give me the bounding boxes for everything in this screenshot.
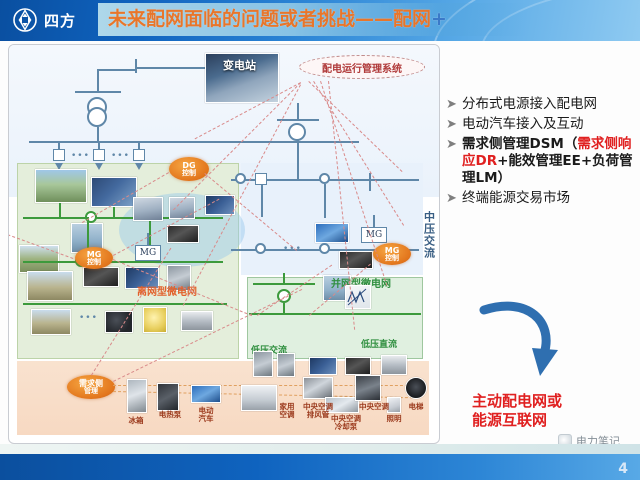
feeder-ellipsis-2: •••	[111, 151, 130, 161]
page-title-plus: +	[431, 8, 447, 30]
farm-photo-2	[31, 309, 71, 335]
hv-incoming-line	[97, 69, 137, 71]
hv-busbar-2	[277, 119, 319, 121]
feeder-arrow-2	[95, 163, 103, 170]
substation-label: 变电站	[223, 57, 256, 73]
mv-busbar	[29, 141, 359, 143]
appliance-label-chiller: 中央空调 冷却泵	[325, 415, 367, 431]
bulb-photo	[143, 307, 167, 333]
mv-node-2	[319, 173, 330, 184]
chevron-right-icon-4: ➤	[446, 190, 457, 207]
bullet-text-2: 电动汽车接入及互动	[462, 116, 584, 133]
hv-busbar	[75, 91, 121, 93]
battery-photo-2	[167, 225, 199, 243]
appliance-label-ev: 电动 汽车	[191, 407, 221, 423]
bubble-mg-left-line2: 控制	[87, 259, 101, 266]
feeder-drop-3	[138, 141, 140, 149]
ongrid-riser	[283, 273, 285, 283]
hill-photo	[35, 169, 87, 203]
conclusion-line-1: 主动配电网或	[472, 392, 632, 411]
page-number: 4	[618, 461, 628, 477]
transformer-2-downlead	[297, 139, 299, 149]
hv-riser	[97, 69, 99, 91]
bullet-item-2: ➤ 电动汽车接入及互动	[446, 116, 636, 133]
appliance-photo-duct	[303, 377, 333, 399]
mv-node-1	[235, 173, 246, 184]
lv-battery-photo	[345, 357, 371, 375]
conclusion-text: 主动配电网或 能源互联网	[472, 392, 632, 430]
ongrid-downlead	[283, 303, 285, 313]
mv-feeder-riser	[297, 149, 299, 179]
appliance-label-elevator: 电梯	[403, 403, 429, 411]
appliance-photo-fridge	[127, 379, 147, 413]
mv-switch-box-1	[255, 173, 267, 185]
chevron-right-icon-2: ➤	[446, 116, 457, 133]
ongrid-bus-main	[249, 313, 421, 315]
microgrid-bus-3	[23, 303, 227, 305]
feeder-breaker-2	[93, 149, 105, 161]
lv-tank-photo	[381, 355, 407, 375]
compass-diamond-icon	[12, 7, 38, 33]
architecture-diagram: 变电站 配电运行管理系统 ••• ••• DG 控制	[8, 44, 440, 444]
bubble-mg-control-left[interactable]: MG 控制	[75, 247, 113, 269]
bullet-item-4: ➤ 终端能源交易市场	[446, 190, 636, 207]
mg-box-1-lead	[373, 215, 375, 227]
building-photo-1	[133, 197, 163, 221]
feeder-breaker-3	[133, 149, 145, 161]
hv-breaker-stub	[135, 59, 137, 73]
chevron-right-icon-3: ➤	[446, 136, 457, 153]
mg-box-2: MG	[135, 245, 161, 261]
hv-riser-2	[297, 103, 299, 119]
mv-branch-3	[369, 173, 371, 191]
mv-branch-1	[324, 184, 326, 218]
microgrid-ellipsis: •••	[79, 313, 98, 323]
conclusion-line-2: 能源互联网	[472, 411, 632, 430]
curved-down-arrow-icon	[470, 300, 570, 396]
feeder-arrow-3	[135, 163, 143, 170]
bullet-panel: ➤ 分布式电源接入配电网 ➤ 电动汽车接入及互动 ➤ 需求侧管理DSM（需求侧响…	[446, 96, 636, 210]
feeder-ellipsis-1: •••	[71, 151, 90, 161]
bullet-item-1: ➤ 分布式电源接入配电网	[446, 96, 636, 113]
feeder-drop-2	[98, 141, 100, 149]
bubble-demand-side-management[interactable]: 需求侧 管理	[67, 375, 115, 399]
chevron-right-icon-1: ➤	[446, 96, 457, 113]
tank-photo	[181, 311, 213, 331]
farm-photo	[27, 271, 73, 301]
transformer-downlead	[97, 127, 99, 141]
brand-logo-text: 四方	[44, 10, 76, 31]
bubble-dg-line2: 控制	[182, 170, 196, 177]
appliance-photo-ev	[191, 385, 221, 403]
slide-footer: 4	[0, 454, 640, 480]
page-title-main: 未来配网面临的问题或者挑战——配网	[108, 8, 431, 30]
page-title: 未来配网面临的问题或者挑战——配网+	[108, 5, 568, 34]
pv-panel-photo-2	[205, 195, 235, 215]
mv-node-4	[319, 243, 330, 254]
lv-cabinet-photo	[253, 351, 273, 377]
dms-ellipse: 配电运行管理系统	[299, 55, 425, 79]
appliance-label-heatpump: 电热泵	[153, 411, 187, 419]
bullet-text-4: 终端能源交易市场	[462, 190, 570, 207]
feeder-breaker-1	[53, 149, 65, 161]
hv-to-substation-line	[135, 67, 207, 69]
lv-pv-photo	[309, 357, 337, 375]
appliance-label-central-ac: 中央空调	[353, 403, 395, 411]
bullet-text-1: 分布式电源接入配电网	[462, 96, 597, 113]
field-photo	[19, 245, 59, 273]
microgrid-drop-2	[113, 207, 115, 217]
appliance-label-light: 照明	[381, 415, 407, 423]
appliance-photo-heatpump	[157, 383, 179, 411]
battery-storage-photo	[83, 267, 119, 287]
bullet-3-part-1: 需求侧管理DSM（	[462, 136, 577, 152]
footer-divider	[0, 444, 640, 454]
mv-branch-2	[261, 185, 263, 217]
brand-logo: 四方	[12, 4, 76, 36]
microgrid-drop-1	[59, 203, 61, 217]
mg-box-1: MG	[361, 227, 387, 243]
bullet-text-3: 需求侧管理DSM（需求侧响应DR+能效管理EE+负荷管理LM）	[462, 136, 636, 187]
bullet-item-3: ➤ 需求侧管理DSM（需求侧响应DR+能效管理EE+负荷管理LM）	[446, 136, 636, 187]
bubble-dsm-line2: 管理	[84, 388, 98, 395]
label-lv-dc: 低压直流	[361, 337, 397, 350]
appliance-photo-home-ac	[241, 385, 277, 411]
appliance-label-fridge: 冰箱	[121, 417, 151, 425]
slide-header: 四方 未来配网面临的问题或者挑战——配网+	[0, 0, 640, 41]
lv-cabinet-photo-2	[277, 353, 295, 377]
slide-root: 四方 未来配网面临的问题或者挑战——配网+ 变电站 配电运行管理系统	[0, 0, 640, 480]
appliance-photo-central-ac	[355, 375, 381, 401]
mv-node-3	[255, 243, 266, 254]
label-mv-ac: 中压交流	[423, 211, 435, 269]
appliance-photo-elevator	[405, 377, 427, 399]
bubble-mg-right-line2: 控制	[385, 255, 399, 262]
transformer-winding-2	[87, 107, 107, 127]
bubble-dg-control[interactable]: DG 控制	[169, 157, 209, 181]
feeder-drop-1	[58, 141, 60, 149]
